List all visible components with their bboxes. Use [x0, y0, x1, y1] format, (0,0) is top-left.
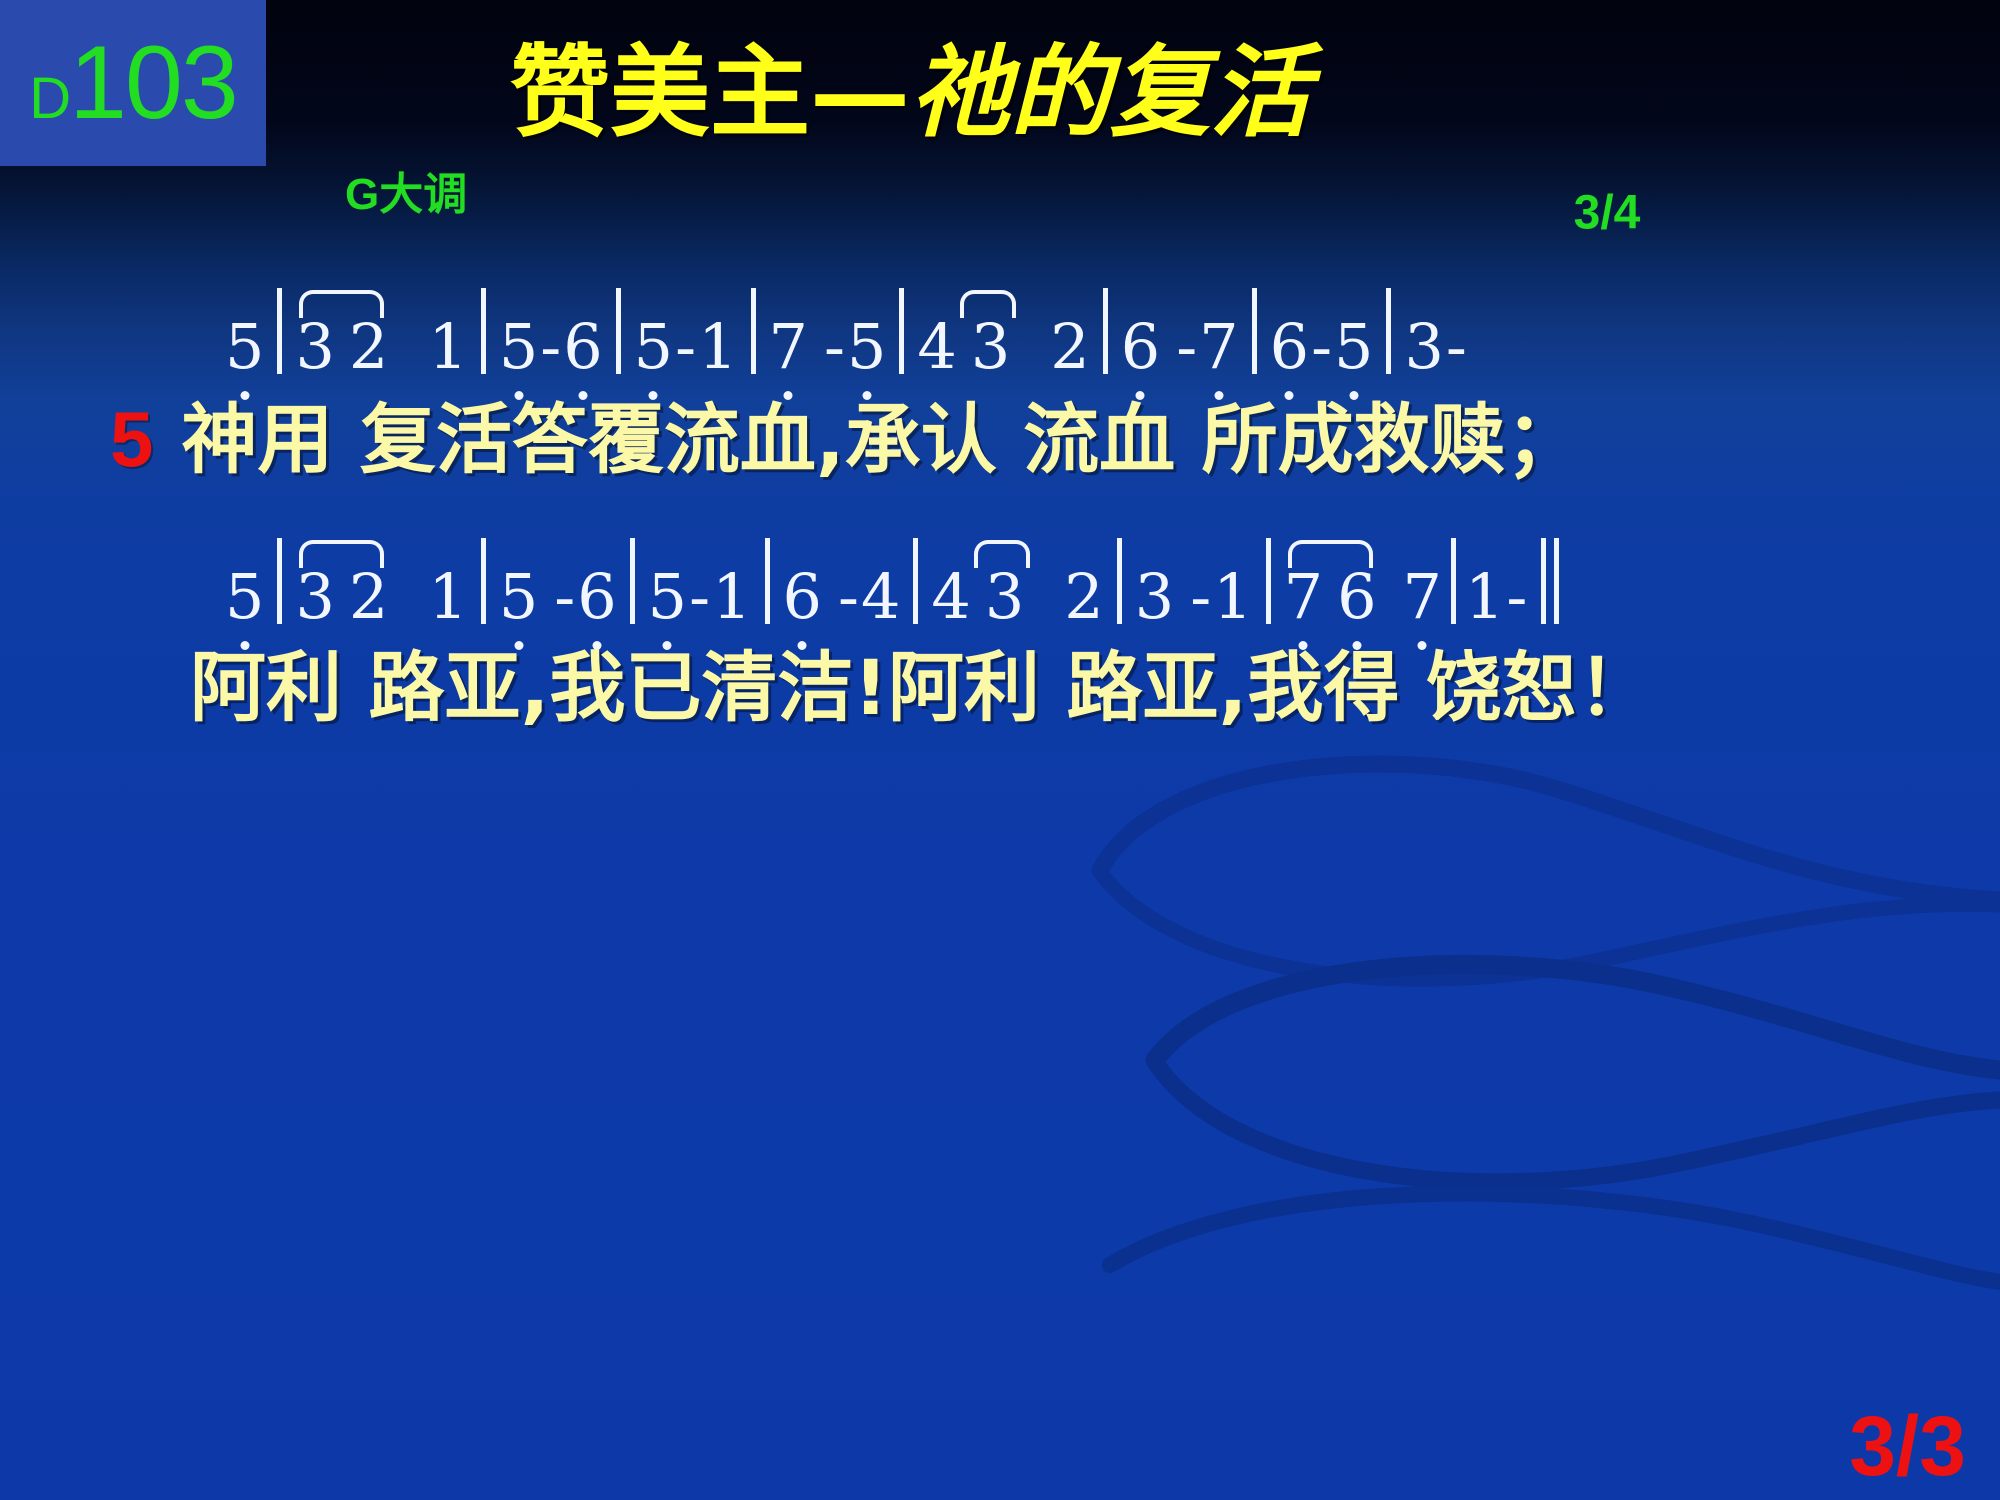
- note-dash: -: [1504, 566, 1529, 628]
- note: 6: [783, 566, 822, 628]
- note: 3: [295, 316, 334, 378]
- note: 7: [1284, 566, 1323, 628]
- note: 2: [349, 316, 388, 378]
- note: 1: [698, 316, 737, 378]
- hymn-number-badge: D103: [0, 0, 266, 166]
- note: 3: [295, 566, 334, 628]
- hymn-number-text: D103: [29, 31, 236, 135]
- notation-line-1: 5 3 2 1 5 - 6 5 - 1 7 - 5 4 3 2 6: [225, 288, 1469, 378]
- note-dash: -: [687, 566, 712, 628]
- note: 4: [917, 316, 956, 378]
- note: 5: [648, 566, 687, 628]
- beamed-group: 7 6: [1284, 566, 1377, 628]
- title-main: 赞美主—: [510, 33, 910, 151]
- barline-icon: [765, 538, 770, 624]
- note-dash: -: [1174, 316, 1199, 378]
- barline-icon: [277, 538, 282, 624]
- lyric-line-1: 5 神用 复活答覆流血,承认 流血 所成救赎；: [110, 400, 1582, 478]
- barline-icon: [1117, 538, 1122, 624]
- note: 1: [428, 566, 467, 628]
- barline-icon: [1103, 288, 1108, 374]
- note: 3: [985, 566, 1024, 628]
- note: 2: [1050, 316, 1089, 378]
- note-dash: -: [552, 566, 577, 628]
- hymn-slide: D103 赞美主—祂的复活 G大调 3/4 5 3 2 1 5 - 6 5 - …: [0, 0, 2000, 1500]
- barline-icon: [1386, 288, 1391, 374]
- swoosh-decoration-icon: [0, 0, 2000, 1500]
- barline-icon: [277, 288, 282, 374]
- time-signature: 3/4: [1574, 186, 1641, 241]
- barline-icon: [481, 538, 486, 624]
- barline-icon: [630, 538, 635, 624]
- note: 3: [1135, 566, 1174, 628]
- note: 6: [563, 316, 602, 378]
- title-subtitle: 祂的复活: [910, 33, 1310, 151]
- double-barline-icon: [1541, 538, 1559, 624]
- barline-icon: [1252, 288, 1257, 374]
- lyric-text: 阿利 路亚,我已清洁!阿利 路亚,我得 饶恕！: [190, 650, 1654, 726]
- note-dash: -: [538, 316, 563, 378]
- key-signature: G大调: [345, 158, 467, 222]
- note: 5: [225, 316, 264, 378]
- page-title: 赞美主—祂的复活: [380, 40, 1440, 145]
- note: 1: [712, 566, 751, 628]
- note: 4: [861, 566, 900, 628]
- note: 3: [971, 316, 1010, 378]
- note: 5: [634, 316, 673, 378]
- note-dash: -: [1444, 316, 1469, 378]
- note: 7: [1199, 316, 1238, 378]
- beamed-group: 3 2: [295, 316, 388, 378]
- barline-icon: [1451, 538, 1456, 624]
- note: 2: [1064, 566, 1103, 628]
- note-dash: -: [673, 316, 698, 378]
- barline-icon: [616, 288, 621, 374]
- verse-number: 5: [110, 400, 153, 478]
- beamed-group: 4 3: [931, 566, 1024, 628]
- note: 5: [1334, 316, 1373, 378]
- notation-line-2: 5 3 2 1 5 - 6 5 - 1 6 - 4 4 3 2: [225, 538, 1559, 628]
- note: 1: [1213, 566, 1252, 628]
- note-dash: -: [822, 316, 847, 378]
- lyric-line-2: 阿利 路亚,我已清洁!阿利 路亚,我得 饶恕！: [190, 650, 1654, 726]
- note: 7: [769, 316, 808, 378]
- lyric-text: 神用 复活答覆流血,承认 流血 所成救赎；: [181, 402, 1581, 478]
- note: 6: [577, 566, 616, 628]
- note: 3: [1404, 316, 1443, 378]
- barline-icon: [1266, 538, 1271, 624]
- note-dash: -: [1188, 566, 1213, 628]
- note-dash: -: [836, 566, 861, 628]
- note: 7: [1403, 566, 1442, 628]
- note: 1: [428, 316, 467, 378]
- note: 5: [499, 566, 538, 628]
- note: 5: [499, 316, 538, 378]
- note: 6: [1121, 316, 1160, 378]
- barline-icon: [751, 288, 756, 374]
- barline-icon: [481, 288, 486, 374]
- page-indicator: 3/3: [1849, 1404, 1966, 1488]
- hymn-number-value: 103: [69, 25, 237, 141]
- note: 5: [847, 316, 886, 378]
- beamed-group: 3 2: [295, 566, 388, 628]
- beamed-group: 4 3: [917, 316, 1010, 378]
- note-dash: -: [1309, 316, 1334, 378]
- hymn-number-prefix: D: [29, 66, 69, 131]
- barline-icon: [899, 288, 904, 374]
- note: 5: [225, 566, 264, 628]
- note: 4: [931, 566, 970, 628]
- note: 2: [349, 566, 388, 628]
- note: 1: [1465, 566, 1504, 628]
- barline-icon: [913, 538, 918, 624]
- note: 6: [1270, 316, 1309, 378]
- note: 6: [1337, 566, 1376, 628]
